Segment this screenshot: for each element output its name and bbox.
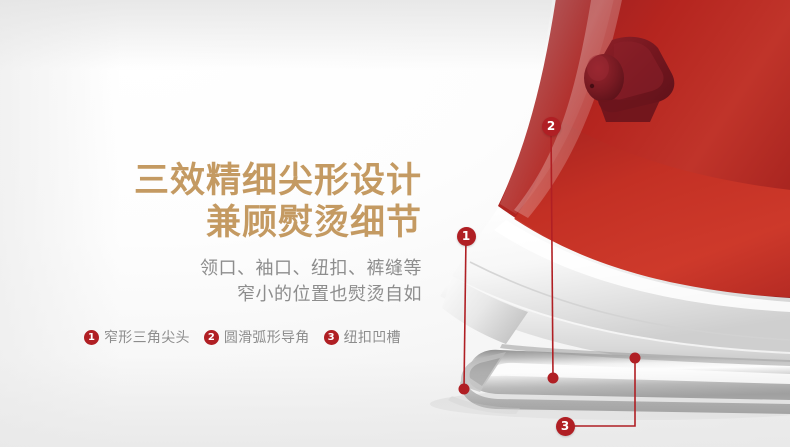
callout-badge-2[interactable]: 2 xyxy=(542,117,561,136)
callout-badge-3[interactable]: 3 xyxy=(556,417,575,436)
callout-line-3 xyxy=(565,358,635,426)
callout-line-2 xyxy=(551,126,553,378)
callout-dot-2 xyxy=(548,373,559,384)
callout-leader-lines xyxy=(0,0,790,447)
callout-badge-1[interactable]: 1 xyxy=(457,227,476,246)
callout-line-1 xyxy=(464,236,466,389)
callout-dot-3 xyxy=(630,353,641,364)
callout-dot-1 xyxy=(459,384,470,395)
promo-banner: 三效精细尖形设计 兼顾熨烫细节 领口、袖口、纽扣、裤缝等 窄小的位置也熨烫自如 … xyxy=(0,0,790,447)
callout-layer: 123 xyxy=(0,0,790,447)
